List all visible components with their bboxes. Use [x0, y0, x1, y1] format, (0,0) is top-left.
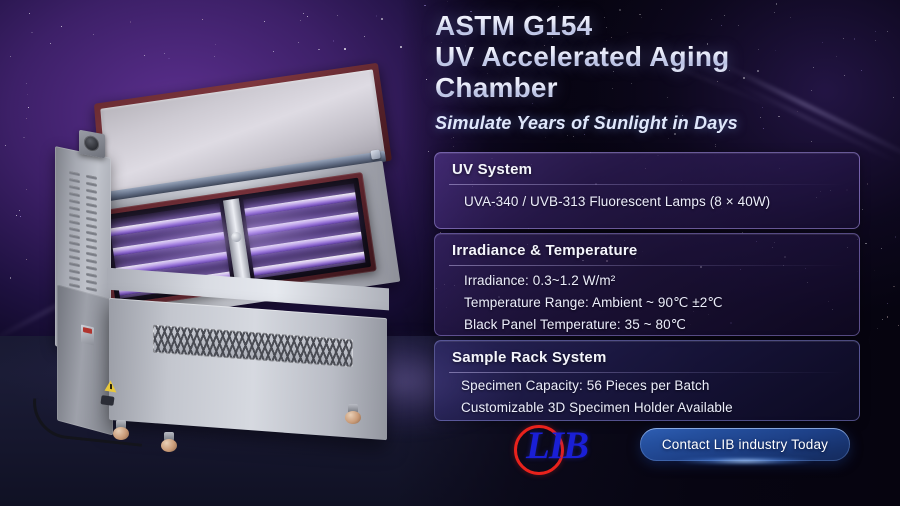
panel-divider — [449, 265, 845, 266]
spec-panel-irradiance-temperature: Irradiance & Temperature Irradiance: 0.3… — [434, 233, 860, 336]
page-subtitle: Simulate Years of Sunlight in Days — [435, 113, 738, 134]
panel-divider — [449, 184, 845, 185]
lamp-bank-right — [243, 183, 365, 279]
chamber-lower-cabinet — [57, 292, 387, 442]
page-title-line-2: UV Accelerated Aging — [435, 41, 729, 72]
page-title-line-1: ASTM G154 — [435, 10, 592, 41]
spec-line: Black Panel Temperature: 35 ~ 80℃ — [464, 314, 845, 336]
power-cord-connector — [100, 395, 114, 406]
spec-panel-heading: Sample Rack System — [452, 349, 607, 366]
spec-panel-body: Irradiance: 0.3~1.2 W/m² Temperature Ran… — [464, 270, 845, 336]
spec-panel-heading: UV System — [452, 161, 532, 178]
promo-banner: ASTM G154 UV Accelerated Aging Chamber S… — [0, 0, 900, 506]
spec-panel-body: Specimen Capacity: 56 Pieces per Batch C… — [461, 375, 845, 419]
hinge-knob-icon — [370, 149, 380, 159]
page-title-line-3: Chamber — [435, 72, 558, 103]
caster-wheel — [345, 404, 361, 424]
cta-underglow — [655, 458, 835, 464]
panel-divider — [449, 372, 845, 373]
contact-cta-label: Contact LIB industry Today — [662, 437, 828, 452]
spec-line: Temperature Range: Ambient ~ 90℃ ±2℃ — [464, 292, 845, 314]
lib-logo: LIB — [508, 421, 628, 473]
exhaust-fan-icon — [79, 130, 105, 159]
spec-panel-sample-rack: Sample Rack System Specimen Capacity: 56… — [434, 340, 860, 421]
spec-panel-uv-system: UV System UVA-340 / UVB-313 Fluorescent … — [434, 152, 860, 229]
spec-line: UVA-340 / UVB-313 Fluorescent Lamps (8 ×… — [464, 191, 845, 213]
caster-wheel — [161, 432, 177, 452]
power-switch-box — [81, 324, 94, 345]
spec-panel-heading: Irradiance & Temperature — [452, 242, 637, 259]
contact-cta-button[interactable]: Contact LIB industry Today — [640, 428, 850, 461]
uv-lamp-tube — [246, 231, 365, 256]
spec-line: Customizable 3D Specimen Holder Availabl… — [461, 397, 845, 419]
spec-line: Irradiance: 0.3~1.2 W/m² — [464, 270, 845, 292]
logo-wordmark: LIB — [526, 423, 588, 469]
uv-chamber-illustration — [35, 60, 415, 450]
uv-lamp-tube — [249, 251, 365, 276]
spec-line: Specimen Capacity: 56 Pieces per Batch — [461, 375, 845, 397]
spec-panel-body: UVA-340 / UVB-313 Fluorescent Lamps (8 ×… — [464, 191, 845, 213]
